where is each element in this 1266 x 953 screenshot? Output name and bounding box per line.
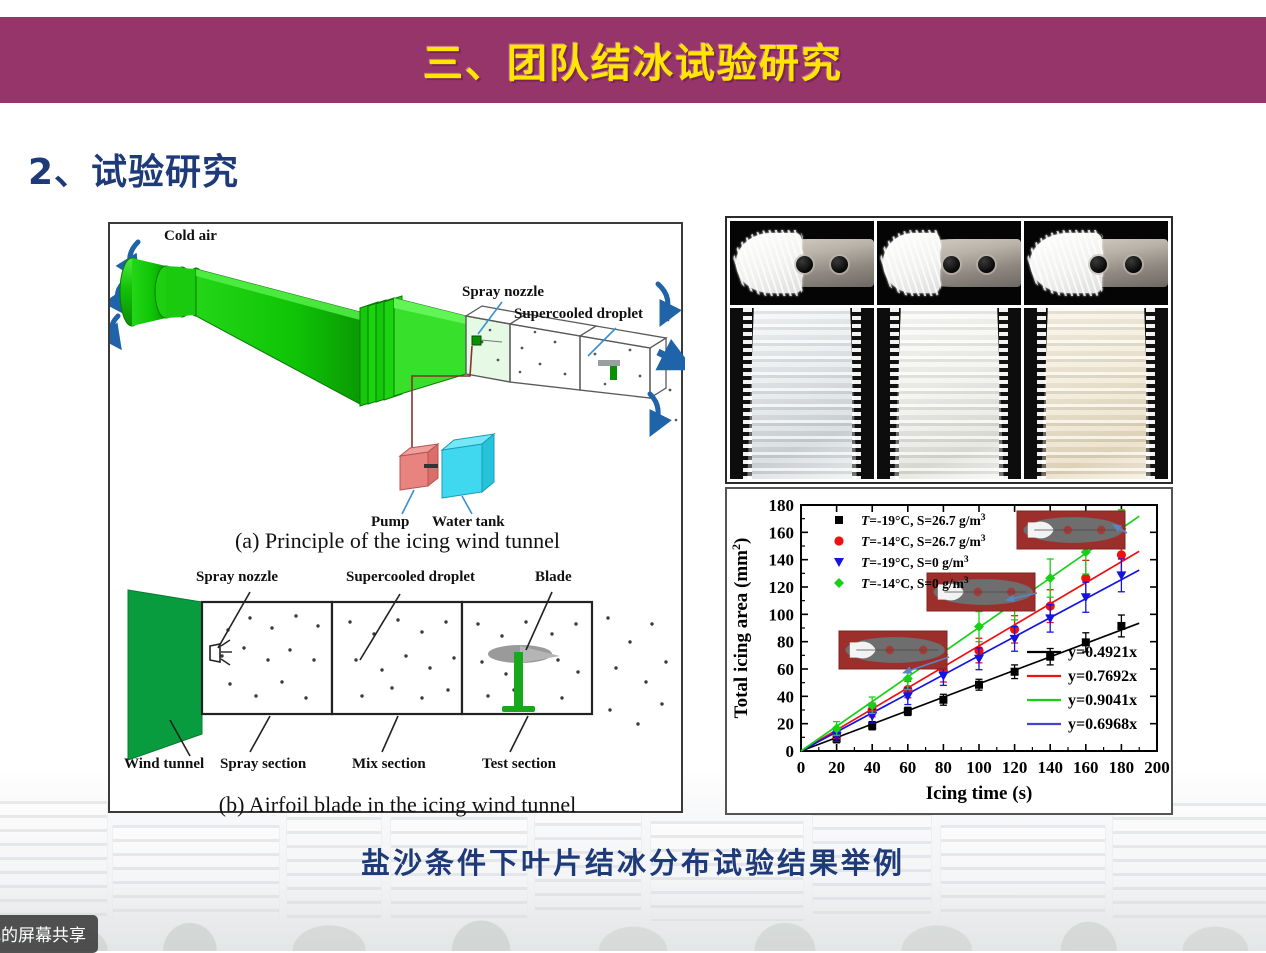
x-tick-label: 140 bbox=[1037, 758, 1063, 777]
screen-share-indicator[interactable]: 电的屏幕共享 bbox=[0, 915, 98, 953]
label-spray-nozzle-a: Spray nozzle bbox=[462, 284, 544, 301]
mounting-hole bbox=[831, 256, 848, 273]
ice-accretion bbox=[883, 233, 941, 293]
wind-tunnel-schematic-svg bbox=[110, 224, 685, 524]
subfigure-a-caption: (a) Principle of the icing wind tunnel bbox=[110, 528, 685, 554]
blade-column bbox=[894, 308, 1003, 479]
x-tick-label: 60 bbox=[899, 758, 916, 777]
x-tick-label: 80 bbox=[935, 758, 952, 777]
y-tick-label: 120 bbox=[769, 578, 795, 597]
ice-edge-left bbox=[1037, 308, 1046, 479]
label-wind-tunnel: Wind tunnel bbox=[124, 756, 204, 773]
ice-edge-left bbox=[890, 308, 899, 479]
y-tick-label: 40 bbox=[777, 687, 794, 706]
label-cold-air: Cold air bbox=[164, 228, 217, 245]
x-axis-label: Icing time (s) bbox=[926, 783, 1033, 804]
legend-label: T=-14°C, S=0 g/m3 bbox=[861, 576, 969, 591]
legend-label: T=-14°C, S=26.7 g/m3 bbox=[861, 534, 986, 549]
data-marker bbox=[1117, 622, 1125, 630]
data-marker bbox=[1117, 550, 1126, 559]
slide-bottom-caption: 盐沙条件下叶片结冰分布试验结果举例 bbox=[0, 840, 1266, 882]
iced-blade-photo-grid bbox=[725, 216, 1173, 484]
ice-edge-right bbox=[1146, 308, 1155, 479]
chart-svg: 0204060801001201401601802000204060801001… bbox=[727, 489, 1171, 813]
iced-blade-surface-2 bbox=[877, 308, 1021, 479]
icing-wind-tunnel-figure: Cold air Spray nozzle Supercooled drople… bbox=[108, 222, 683, 813]
y-tick-label: 20 bbox=[777, 715, 794, 734]
y-axis-label: Total icing area (mm2) bbox=[729, 538, 752, 719]
x-tick-label: 200 bbox=[1144, 758, 1170, 777]
legend-label: T=-19°C, S=26.7 g/m3 bbox=[861, 513, 986, 528]
x-tick-label: 120 bbox=[1002, 758, 1028, 777]
airfoil-tunnel-schematic-svg bbox=[110, 564, 685, 786]
data-marker bbox=[975, 681, 983, 689]
icing-area-vs-time-chart: 0204060801001201401601802000204060801001… bbox=[725, 487, 1173, 815]
data-marker bbox=[834, 536, 843, 545]
label-test-section: Test section bbox=[482, 756, 556, 773]
x-tick-label: 180 bbox=[1109, 758, 1135, 777]
data-marker bbox=[835, 516, 843, 524]
airfoil-leading-edge-ice-1 bbox=[730, 221, 874, 305]
fit-legend-label: y=0.9041x bbox=[1068, 692, 1137, 709]
label-blade: Blade bbox=[535, 569, 572, 586]
airfoil-leading-edge-ice-2 bbox=[877, 221, 1021, 305]
blade-inset-photo bbox=[1017, 511, 1125, 549]
x-tick-label: 20 bbox=[828, 758, 845, 777]
data-marker bbox=[904, 707, 912, 715]
y-tick-label: 140 bbox=[769, 551, 795, 570]
y-tick-label: 100 bbox=[769, 605, 795, 624]
y-tick-label: 160 bbox=[769, 523, 795, 542]
label-spray-nozzle-b: Spray nozzle bbox=[196, 569, 278, 586]
airfoil-leading-edge-ice-3 bbox=[1024, 221, 1168, 305]
ice-ridges bbox=[747, 308, 856, 479]
ice-ridges bbox=[1041, 308, 1150, 479]
fit-legend-label: y=0.4921x bbox=[1068, 644, 1137, 661]
header-band: 三、团队结冰试验研究 bbox=[0, 17, 1266, 103]
iced-blade-surface-3 bbox=[1024, 308, 1168, 479]
y-tick-label: 60 bbox=[777, 660, 794, 679]
data-marker bbox=[939, 696, 947, 704]
fit-legend-label: y=0.6968x bbox=[1068, 716, 1137, 733]
label-mix-section: Mix section bbox=[352, 756, 426, 773]
x-tick-label: 160 bbox=[1073, 758, 1099, 777]
subfigure-b-schematic: Spray nozzle Supercooled droplet Blade W… bbox=[110, 564, 685, 815]
page-title: 三、团队结冰试验研究 bbox=[0, 17, 1266, 103]
ice-edge-left bbox=[743, 308, 752, 479]
y-tick-label: 0 bbox=[786, 742, 795, 761]
subfigure-b-caption: (b) Airfoil blade in the icing wind tunn… bbox=[110, 792, 685, 818]
subfigure-a-schematic: Cold air Spray nozzle Supercooled drople… bbox=[110, 224, 685, 556]
section-title: 2、试验研究 bbox=[28, 143, 239, 195]
data-marker bbox=[1046, 653, 1054, 661]
y-tick-label: 180 bbox=[769, 496, 795, 515]
iced-blade-surface-1 bbox=[730, 308, 874, 479]
label-supercooled-droplet-b: Supercooled droplet bbox=[346, 569, 475, 586]
label-supercooled-droplet-a: Supercooled droplet bbox=[514, 306, 643, 323]
ice-edge-right bbox=[852, 308, 861, 479]
x-tick-label: 100 bbox=[966, 758, 992, 777]
blade-column bbox=[1041, 308, 1150, 479]
ice-edge-right bbox=[999, 308, 1008, 479]
ice-accretion bbox=[736, 233, 802, 293]
label-spray-section: Spray section bbox=[220, 756, 306, 773]
blade-column bbox=[747, 308, 856, 479]
fit-legend-label: y=0.7692x bbox=[1068, 668, 1137, 685]
mounting-hole bbox=[978, 256, 995, 273]
data-marker bbox=[1011, 668, 1019, 676]
legend-label: T=-19°C, S=0 g/m3 bbox=[861, 555, 969, 570]
y-tick-label: 80 bbox=[777, 633, 794, 652]
data-marker bbox=[1081, 574, 1090, 583]
x-tick-label: 40 bbox=[864, 758, 881, 777]
mounting-hole bbox=[1125, 256, 1142, 273]
x-tick-label: 0 bbox=[797, 758, 806, 777]
ice-ridges bbox=[894, 308, 1003, 479]
